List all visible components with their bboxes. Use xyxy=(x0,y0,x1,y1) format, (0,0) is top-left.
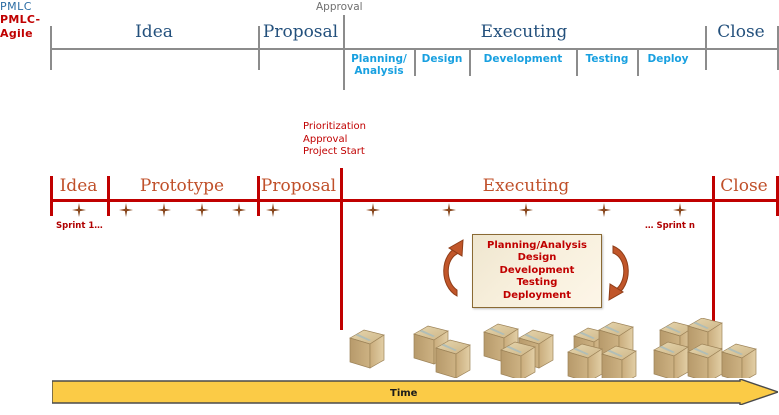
pmlc-phase-idea[interactable]: Idea xyxy=(50,22,258,42)
sprint-marker[interactable] xyxy=(119,203,133,217)
pmlc-subphase-planning-line2: Analysis xyxy=(354,65,403,77)
iteration-item-planning-analysis: Planning/Analysis xyxy=(487,240,587,252)
cycle-arrow-left-icon xyxy=(433,232,467,308)
agile-divider-executing-close xyxy=(712,176,715,330)
iteration-item-development: Development xyxy=(500,265,575,277)
agile-milestone-line3: Project Start xyxy=(303,146,365,157)
agile-phase-executing[interactable]: Executing xyxy=(340,176,712,196)
pmlc-subphase-development[interactable]: Development xyxy=(470,54,576,66)
sprint-marker[interactable] xyxy=(72,203,86,217)
agile-milestone-line1: Prioritization xyxy=(303,121,366,132)
sprint-marker[interactable] xyxy=(195,203,209,217)
sprint-marker[interactable] xyxy=(157,203,171,217)
sprint-marker[interactable] xyxy=(266,203,280,217)
iteration-item-deployment: Deployment xyxy=(503,290,571,302)
time-axis-label: Time xyxy=(390,388,417,399)
iteration-item-testing: Testing xyxy=(517,277,558,289)
agile-phase-prototype[interactable]: Prototype xyxy=(107,176,257,196)
agile-milestone-line2: Approval xyxy=(303,134,347,145)
agile-phase-proposal[interactable]: Proposal xyxy=(257,176,340,196)
pmlc-subphase-planning-analysis[interactable]: Planning/ Analysis xyxy=(345,54,413,77)
pmlc-row-label: PMLC xyxy=(0,0,779,13)
sprint-marker[interactable] xyxy=(442,203,456,217)
sprint-marker[interactable] xyxy=(597,203,611,217)
sprint-marker[interactable] xyxy=(519,203,533,217)
sprint-first-caption: Sprint 1… xyxy=(56,221,103,231)
pmlc-subphase-testing[interactable]: Testing xyxy=(577,54,637,66)
agile-phase-idea[interactable]: Idea xyxy=(50,176,107,196)
increment-boxes-group xyxy=(344,318,774,378)
agile-row-label-line1: PMLC- xyxy=(0,13,40,26)
agile-phase-close[interactable]: Close xyxy=(712,176,776,196)
sprint-marker[interactable] xyxy=(673,203,687,217)
iteration-item-design: Design xyxy=(518,252,557,264)
pmlc-subphase-deploy[interactable]: Deploy xyxy=(638,54,698,66)
pmlc-phase-close[interactable]: Close xyxy=(705,22,777,42)
agile-row-label-line2: Agile xyxy=(0,27,33,40)
agile-baseline xyxy=(50,199,779,202)
sprint-marker[interactable] xyxy=(366,203,380,217)
pmlc-phase-proposal[interactable]: Proposal xyxy=(258,22,343,42)
cycle-arrow-right-icon xyxy=(605,232,639,308)
sprint-marker[interactable] xyxy=(232,203,246,217)
pmlc-milestone-approval-label: Approval xyxy=(316,1,363,13)
iteration-box[interactable]: Planning/Analysis Design Development Tes… xyxy=(472,234,602,308)
sprint-last-caption: … Sprint n xyxy=(645,221,695,231)
pmlc-subphase-design[interactable]: Design xyxy=(415,54,469,66)
pmlc-subphase-planning-line1: Planning/ xyxy=(351,53,407,65)
pmlc-phase-executing[interactable]: Executing xyxy=(343,22,705,42)
agile-milestone-note: Prioritization Approval Project Start xyxy=(303,121,366,159)
